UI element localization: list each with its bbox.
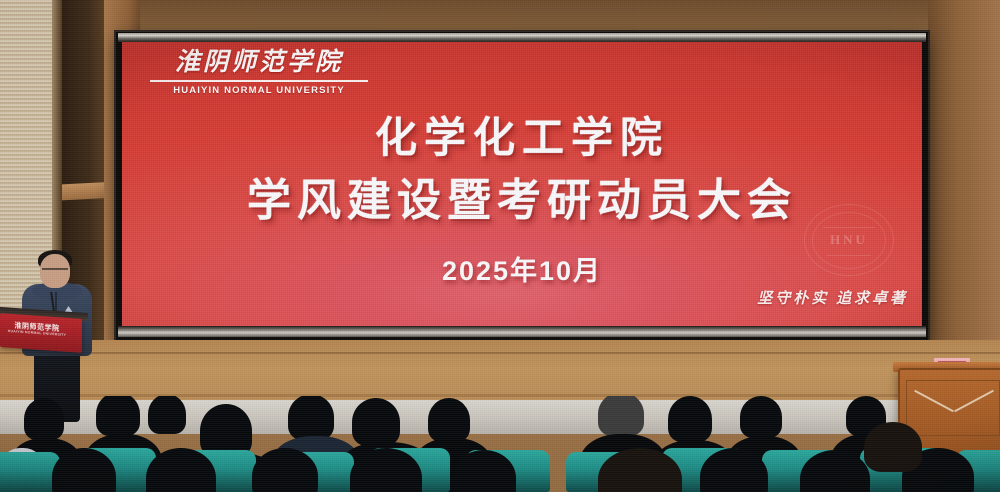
- slide-title-line1: 化学化工学院: [122, 110, 922, 165]
- audience-head: [24, 398, 64, 440]
- university-motto: 坚守朴实 追求卓著: [757, 287, 908, 308]
- audience-head: [288, 396, 334, 440]
- audience-head: [428, 398, 470, 442]
- seal-inner-ring: HNU: [812, 212, 886, 269]
- audience-head: [96, 396, 140, 436]
- university-seal-watermark: HNU: [804, 204, 894, 276]
- audience-head: [668, 396, 712, 442]
- led-screen-bezel-bottom: [118, 326, 926, 337]
- slide-date: 2025年10月: [122, 249, 922, 288]
- slide-title-line2: 学风建设暨考研动员大会: [122, 169, 922, 233]
- university-logo-chinese: 淮阴师范学院: [144, 50, 374, 76]
- stage-wall-seam-upper: [0, 352, 1000, 354]
- speaker-glasses: [42, 268, 68, 276]
- auditorium-seat: [0, 452, 60, 492]
- seal-bottom-bar: [827, 255, 871, 256]
- led-screen: 淮阴师范学院 HUAIYIN NORMAL UNIVERSITY 化学化工学院 …: [122, 42, 922, 328]
- seal-top-bar: [823, 227, 875, 228]
- audience-head: [598, 396, 644, 436]
- audience-area: [0, 396, 1000, 492]
- audience-head: [352, 398, 400, 446]
- audience-head-front: [864, 422, 922, 472]
- audience-head: [740, 396, 782, 438]
- seal-initials: HNU: [830, 232, 868, 248]
- logo-divider: [150, 80, 368, 82]
- slide-titles: 化学化工学院 学风建设暨考研动员大会 2025年10月: [122, 110, 922, 288]
- audience-head: [148, 396, 186, 434]
- university-logo-english: HUAIYIN NORMAL UNIVERSITY: [144, 85, 374, 96]
- auditorium-photo: 淮阴师范学院 HUAIYIN NORMAL UNIVERSITY 化学化工学院 …: [0, 0, 1000, 492]
- university-logo: 淮阴师范学院 HUAIYIN NORMAL UNIVERSITY: [144, 50, 374, 96]
- led-screen-bezel-top: [118, 33, 926, 42]
